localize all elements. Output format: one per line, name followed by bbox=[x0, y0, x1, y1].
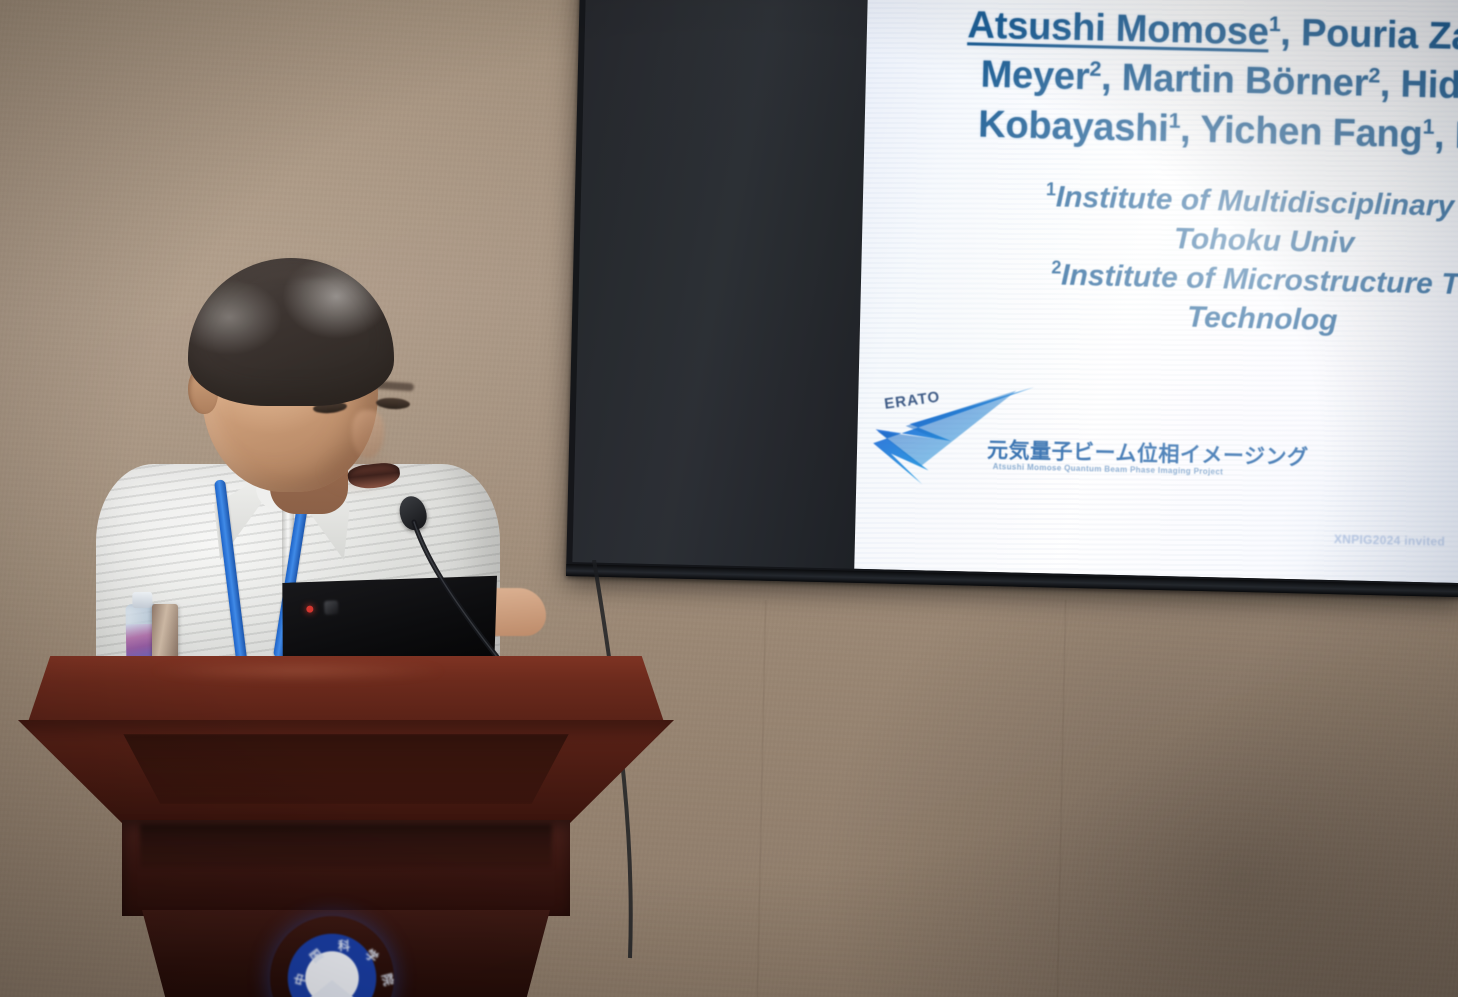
slide-author-list: Atsushi Momose1, Pouria Zang Meyer2, Mar… bbox=[854, 0, 1458, 166]
presenting-author-name: Atsushi Momose bbox=[967, 4, 1269, 53]
author-line-1-rest: , Pouria Zang bbox=[1280, 12, 1458, 60]
slide-affiliation-list: 1Institute of Multidisciplinary R Tohoku… bbox=[854, 172, 1458, 348]
emblem-character: 国 bbox=[306, 945, 326, 966]
eye-right bbox=[376, 397, 411, 410]
affiliation-marker-1: 1 bbox=[1046, 179, 1056, 199]
projection-screen: Atsushi Momose1, Pouria Zang Meyer2, Mar… bbox=[566, 0, 1458, 597]
erato-project-logo: ERATO 元気量子ビーム位相イメージング Atsushi Momose Qua… bbox=[864, 381, 1247, 502]
author-line-3-c: , Ry bbox=[1434, 114, 1458, 158]
speaker-podium: 中国科学院 bbox=[18, 648, 668, 997]
author-affil-marker: 2 bbox=[1368, 64, 1380, 88]
emblem-character: 学 bbox=[362, 945, 382, 966]
slide-footer-note: XNPIG2024 invited bbox=[1334, 532, 1445, 549]
speaker-hair bbox=[188, 258, 394, 406]
emblem-character: 院 bbox=[379, 972, 394, 988]
presentation-photo-scene: Atsushi Momose1, Pouria Zang Meyer2, Mar… bbox=[0, 0, 1458, 997]
podium-sheen bbox=[88, 660, 508, 682]
podium-skirt-face bbox=[114, 734, 578, 804]
presentation-slide: Atsushi Momose1, Pouria Zang Meyer2, Mar… bbox=[854, 0, 1458, 583]
author-affil-marker: 1 bbox=[1422, 114, 1434, 138]
emblem-character: 中 bbox=[290, 972, 310, 988]
author-affil-marker: 2 bbox=[1089, 57, 1101, 81]
author-line-2-c: , Hidek bbox=[1379, 63, 1458, 108]
affiliation-marker-2: 2 bbox=[1051, 257, 1061, 277]
bottle-cap bbox=[132, 592, 152, 608]
podium-mid-shadow bbox=[140, 824, 552, 868]
author-line-2-b: , Martin Börner bbox=[1101, 57, 1369, 105]
screen-letterbox bbox=[572, 0, 868, 569]
author-affil-marker: 1 bbox=[1169, 108, 1181, 132]
author-line-3-a: Kobayashi bbox=[978, 103, 1169, 149]
laptop-brand-logo bbox=[324, 600, 339, 615]
author-line-2-a: Meyer bbox=[980, 54, 1090, 99]
screen-surface: Atsushi Momose1, Pouria Zang Meyer2, Mar… bbox=[572, 0, 1458, 583]
author-line-3-b: , Yichen Fang bbox=[1180, 108, 1423, 156]
nose bbox=[352, 410, 384, 458]
emblem-character: 科 bbox=[338, 937, 350, 954]
affiliation-2-text: Institute of Microstructure Te bbox=[1061, 259, 1458, 302]
emblem-ring-text: 中国科学院 bbox=[276, 922, 388, 997]
affiliation-1-text: Institute of Multidisciplinary R bbox=[1056, 180, 1458, 223]
